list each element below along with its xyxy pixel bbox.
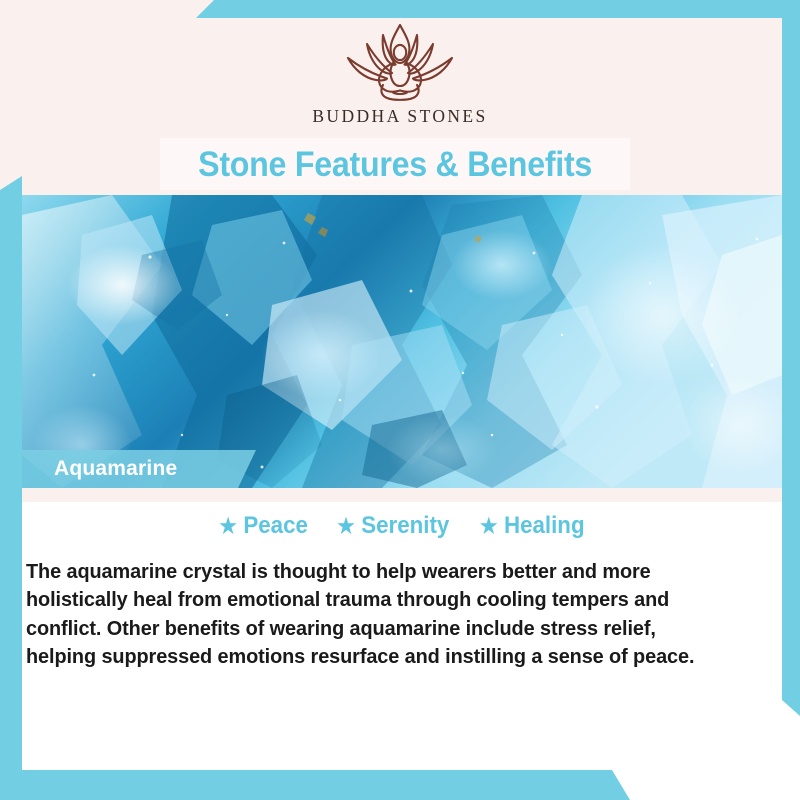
- page-title: Stone Features & Benefits: [198, 147, 592, 182]
- photo-bottom-strip: [22, 488, 782, 502]
- star-icon: ★: [337, 516, 355, 537]
- brand-logo-block: BUDDHA STONES: [0, 22, 800, 127]
- aquamarine-crystal-photo: [22, 195, 782, 488]
- lotus-meditation-figure-icon: [334, 22, 466, 104]
- keyword-healing: ★ Healing: [480, 512, 585, 540]
- keyword-label: Serenity: [361, 512, 449, 540]
- keyword-list: ★ Peace ★ Serenity ★ Healing: [22, 512, 782, 540]
- star-icon: ★: [480, 516, 498, 537]
- stone-name: Aquamarine: [54, 457, 177, 481]
- page-title-band: Stone Features & Benefits: [160, 138, 630, 190]
- brand-name: BUDDHA STONES: [312, 106, 487, 127]
- keyword-peace: ★ Peace: [219, 512, 308, 540]
- star-icon: ★: [219, 516, 237, 537]
- stone-info-poster: BUDDHA STONES Stone Features & Benefits: [0, 0, 800, 800]
- keyword-serenity: ★ Serenity: [337, 512, 449, 540]
- decorative-left-bar: [0, 190, 22, 800]
- stone-name-banner: Aquamarine: [22, 450, 256, 488]
- stone-description: The aquamarine crystal is thought to hel…: [26, 558, 726, 671]
- decorative-right-bar: [782, 0, 800, 700]
- keyword-label: Healing: [504, 512, 585, 540]
- decorative-bottom-bar: [0, 770, 800, 800]
- keyword-label: Peace: [243, 512, 308, 540]
